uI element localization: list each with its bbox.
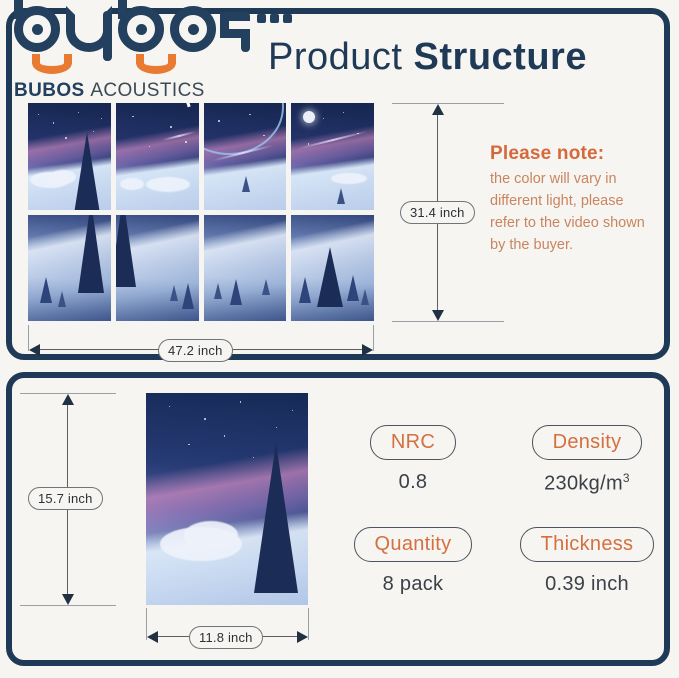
dim-label-height-top: 31.4 inch xyxy=(400,201,475,224)
please-note-block: Please note: the color will vary in diff… xyxy=(490,143,655,256)
page-title-bold: Structure xyxy=(414,36,587,78)
spec-value: 0.8 xyxy=(340,471,486,494)
brand-subtitle-light: ACOUSTICS xyxy=(90,80,204,101)
brand-subtitle: BUBOS ACOUSTICS xyxy=(14,80,205,102)
logo-letter-o xyxy=(170,6,216,52)
note-body: the color will vary in different light, … xyxy=(490,168,655,256)
mural-panel xyxy=(116,215,199,322)
page-title: Product Structure xyxy=(268,36,587,79)
dim-arrow-down xyxy=(432,310,444,321)
brand-subtitle-bold: BUBOS xyxy=(14,80,85,101)
mural-panel xyxy=(204,215,287,322)
logo-tick-1 xyxy=(257,14,266,23)
spec-label: Quantity xyxy=(354,527,473,562)
brand-logo: BUBOS ACOUSTICS xyxy=(14,2,244,102)
logo-tick-2 xyxy=(270,14,279,23)
spec-value: 0.39 inch xyxy=(514,573,660,596)
single-panel-preview xyxy=(146,393,308,605)
mural-panel xyxy=(28,103,111,210)
spec-label: Density xyxy=(532,425,643,460)
mural-panel xyxy=(291,215,374,322)
dim-label-width-bottom: 11.8 inch xyxy=(189,626,263,649)
dim-arrow-left-bottom xyxy=(147,631,158,643)
dim-ext-bw-right xyxy=(308,608,309,640)
dim-label-height-bottom: 15.7 inch xyxy=(28,487,103,510)
spec-card-quantity: Quantity 8 pack xyxy=(340,527,486,615)
dim-arrow-up-bottom xyxy=(62,394,74,405)
page-title-light: Product xyxy=(268,36,402,78)
spec-label: Thickness xyxy=(520,527,655,562)
spec-value-text: 230kg/m xyxy=(544,473,623,495)
dim-arrow-right xyxy=(362,344,373,356)
dim-arrow-up xyxy=(432,104,444,115)
logo-tick-3 xyxy=(283,14,292,23)
dim-ext-bottom xyxy=(392,321,504,322)
dim-arrow-right-bottom xyxy=(297,631,308,643)
logo-letter-u xyxy=(66,6,112,52)
spec-value: 8 pack xyxy=(340,573,486,596)
logo-smile-accent-2 xyxy=(136,54,176,74)
dim-ext-right xyxy=(373,325,374,351)
logo-letter-b2 xyxy=(118,6,164,52)
spec-card-thickness: Thickness 0.39 inch xyxy=(514,527,660,615)
logo-letter-b xyxy=(14,6,60,52)
note-title: Please note: xyxy=(490,143,655,165)
dim-ext-bottom-bot xyxy=(20,605,116,606)
mural-panel xyxy=(291,103,374,210)
spec-card-density: Density 230kg/m3 xyxy=(514,425,660,513)
spec-value-sup: 3 xyxy=(623,471,630,485)
dim-ext-top xyxy=(392,103,504,104)
mural-panel xyxy=(28,215,111,322)
spec-value: 230kg/m3 xyxy=(514,471,660,496)
spec-card-nrc: NRC 0.8 xyxy=(340,425,486,513)
infographic-root: BUBOS ACOUSTICS Product Structure xyxy=(0,0,679,678)
dim-arrow-left xyxy=(29,344,40,356)
logo-smile-accent-1 xyxy=(32,54,72,74)
logo-letter-s xyxy=(220,12,250,52)
dim-label-width-top: 47.2 inch xyxy=(158,339,233,362)
dim-arrow-down-bottom xyxy=(62,594,74,605)
bubos-wordmark-icon xyxy=(14,2,229,58)
mural-panel xyxy=(204,103,287,210)
spec-grid: NRC 0.8 Density 230kg/m3 Quantity 8 pack… xyxy=(340,425,660,615)
panel-mural-grid xyxy=(28,103,374,321)
mural-panel xyxy=(116,103,199,210)
spec-label: NRC xyxy=(370,425,456,460)
